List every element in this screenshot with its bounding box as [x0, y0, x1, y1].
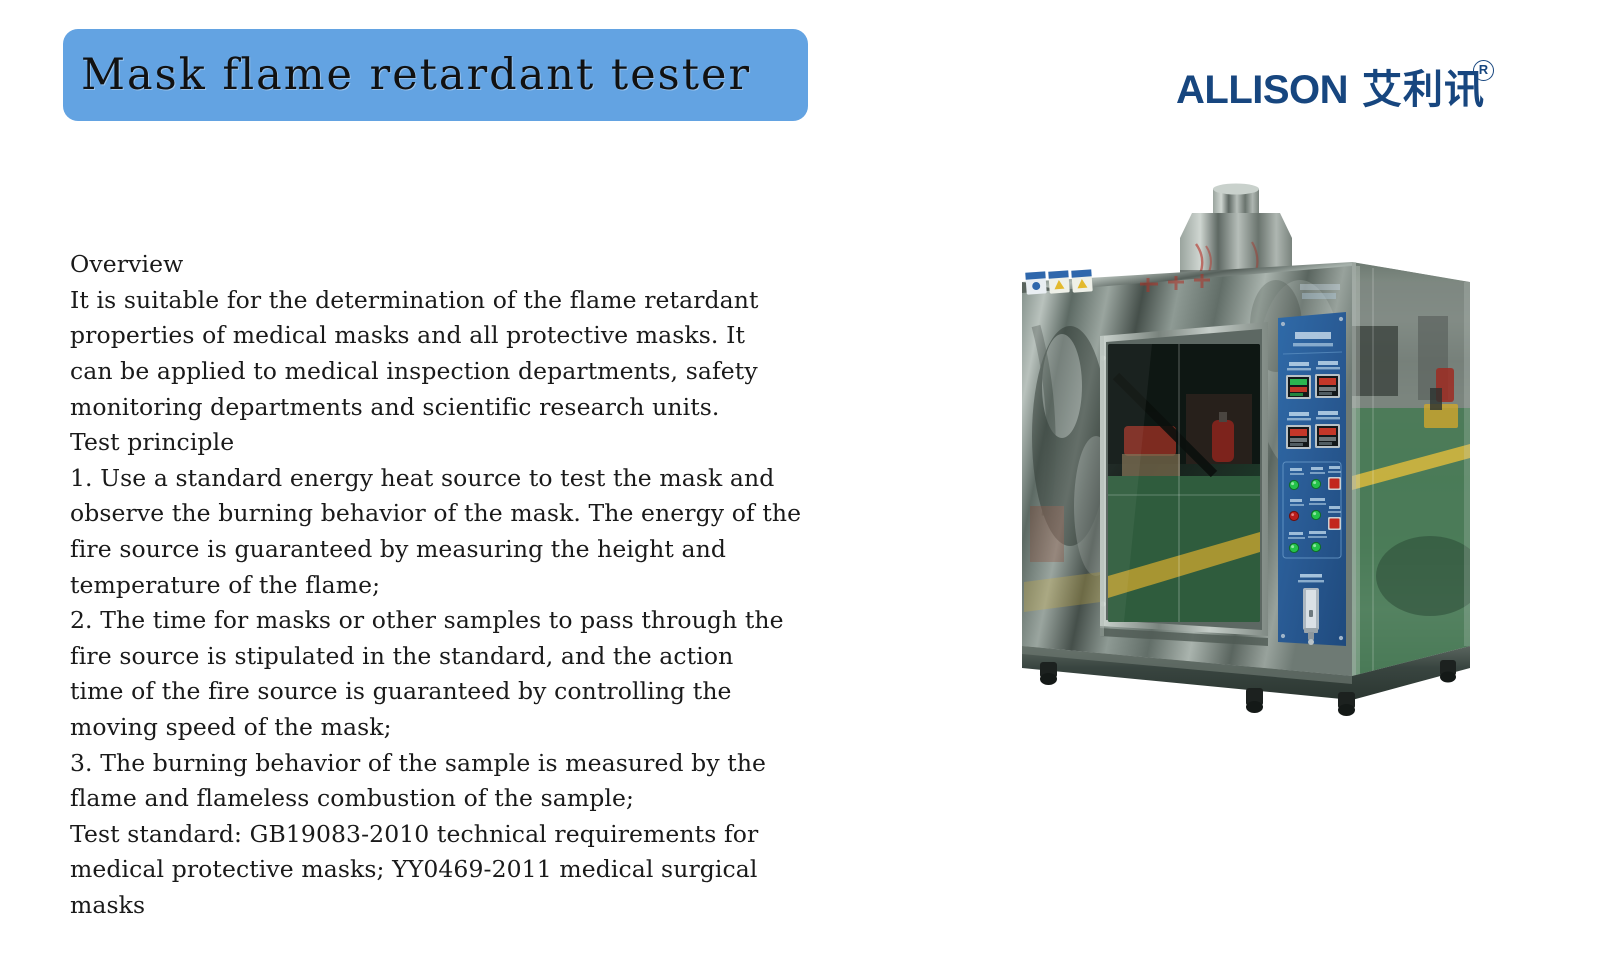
registered-trademark-icon: R [1473, 57, 1494, 81]
page-title: Mask flame retardant tester [81, 50, 751, 100]
digital-meter[interactable] [1286, 425, 1311, 449]
caster-wheel [1040, 662, 1057, 685]
caster-wheel [1338, 692, 1355, 716]
brand-logo-latin-text: ALLISON [1176, 70, 1348, 110]
digital-meter[interactable] [1286, 375, 1311, 399]
brand-logo-chinese-text: 艾利讯 [1362, 70, 1485, 110]
description-paragraph: Overview It is suitable for the determin… [70, 247, 965, 923]
control-panel[interactable] [1278, 284, 1346, 646]
warning-label-stickers [1025, 269, 1092, 294]
caster-wheel [1440, 660, 1456, 683]
cabinet-right-side-panel [1352, 262, 1484, 676]
exhaust-vent-icon [1180, 184, 1292, 277]
product-photo [1000, 176, 1520, 776]
observation-window-door[interactable] [1100, 322, 1268, 636]
description-text-block: Overview It is suitable for the determin… [70, 176, 965, 959]
product-photo-illustration [1000, 176, 1520, 776]
digital-meter[interactable] [1315, 424, 1340, 448]
brand-logo: ALLISON 艾利讯 [1176, 60, 1506, 120]
registered-mark-glyph: R [1473, 60, 1494, 81]
page-title-banner: Mask flame retardant tester [63, 29, 808, 121]
caster-wheel [1246, 688, 1263, 713]
digital-meter[interactable] [1315, 374, 1340, 398]
